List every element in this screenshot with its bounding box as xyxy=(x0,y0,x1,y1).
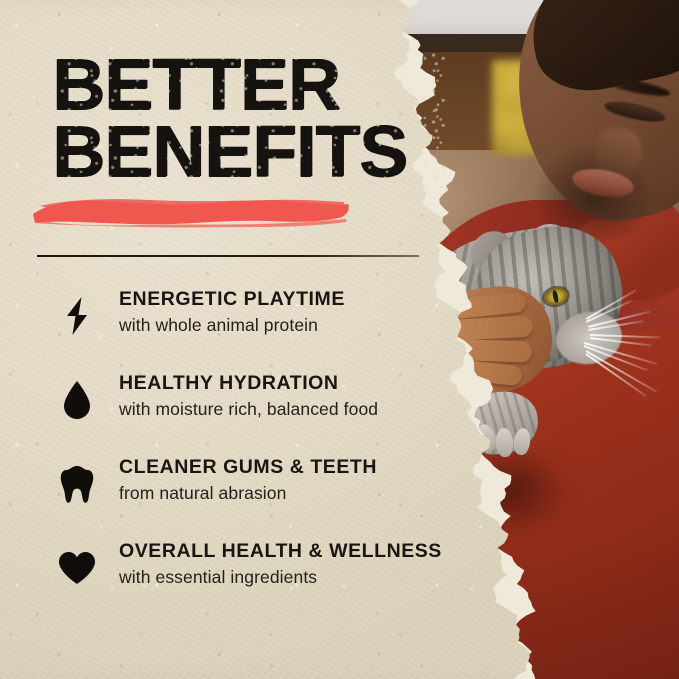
benefit-text: HEALTHY HYDRATION with moisture rich, ba… xyxy=(119,372,378,421)
benefit-subtitle: with essential ingredients xyxy=(119,566,442,589)
benefit-title: OVERALL HEALTH & WELLNESS xyxy=(119,540,442,564)
page-title: BETTER BENEFITS xyxy=(52,54,432,185)
benefit-title: CLEANER GUMS & TEETH xyxy=(119,456,377,480)
benefit-subtitle: from natural abrasion xyxy=(119,482,377,505)
benefit-text: OVERALL HEALTH & WELLNESS with essential… xyxy=(119,540,442,589)
benefit-title: HEALTHY HYDRATION xyxy=(119,372,378,396)
benefit-title: ENERGETIC PLAYTIME xyxy=(119,288,345,312)
tooth-icon xyxy=(56,462,98,506)
infographic-canvas: BETTER BENEFITS ENERGETIC PLAYTIME with … xyxy=(0,0,679,679)
benefit-text: ENERGETIC PLAYTIME with whole animal pro… xyxy=(119,288,345,337)
red-brush-stroke xyxy=(30,192,352,228)
title-line-2: BENEFITS xyxy=(52,121,440,184)
water-droplet-icon xyxy=(56,378,98,422)
benefit-row-overall-health-wellness: OVERALL HEALTH & WELLNESS with essential… xyxy=(52,540,472,624)
benefit-row-energetic-playtime: ENERGETIC PLAYTIME with whole animal pro… xyxy=(52,288,472,372)
benefit-row-healthy-hydration: HEALTHY HYDRATION with moisture rich, ba… xyxy=(52,372,472,456)
title-line-1: BETTER xyxy=(52,54,440,117)
benefit-row-cleaner-gums-teeth: CLEANER GUMS & TEETH from natural abrasi… xyxy=(52,456,472,540)
heart-icon xyxy=(56,546,98,590)
horizontal-divider xyxy=(37,255,419,257)
title-line-2-text: BENEFITS xyxy=(52,112,407,192)
benefits-list: ENERGETIC PLAYTIME with whole animal pro… xyxy=(52,288,472,624)
benefit-subtitle: with whole animal protein xyxy=(119,314,345,337)
content-layer: BETTER BENEFITS ENERGETIC PLAYTIME with … xyxy=(0,0,679,679)
lightning-bolt-icon xyxy=(56,294,98,338)
benefit-text: CLEANER GUMS & TEETH from natural abrasi… xyxy=(119,456,377,505)
benefit-subtitle: with moisture rich, balanced food xyxy=(119,398,378,421)
